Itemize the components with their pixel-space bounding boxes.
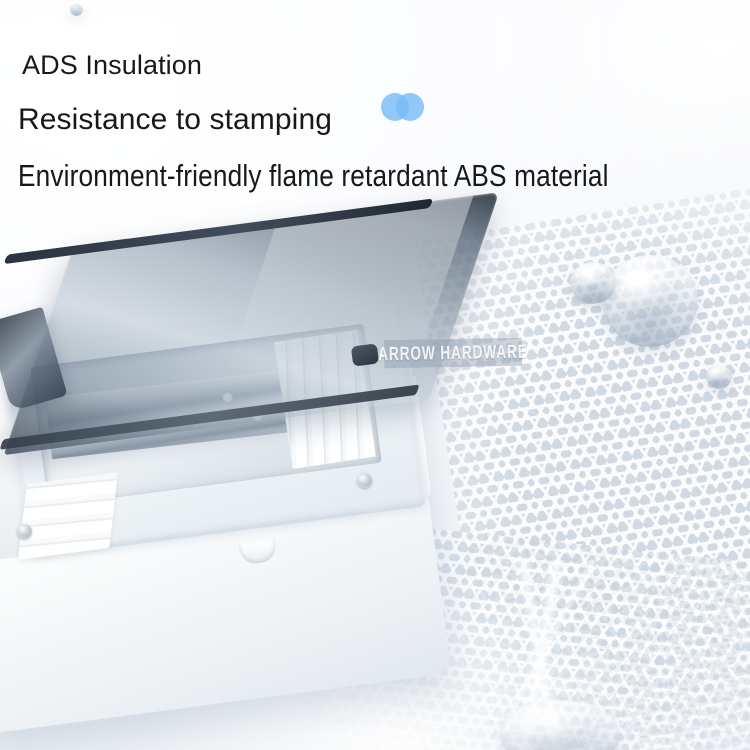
product-feature-banner: ARROW HARDWARE ADS Insulation Resistance…: [0, 0, 750, 750]
lid-hinge: [351, 343, 379, 366]
headline-line-1: ADS Insulation: [22, 52, 202, 79]
blue-circle-right: [396, 93, 424, 121]
water-droplet-tiny: [70, 4, 83, 16]
electrical-distribution-box: [0, 195, 520, 715]
water-droplet-small: [706, 365, 732, 389]
water-droplet-large: [602, 255, 698, 347]
panel-screw: [357, 473, 372, 488]
headline-line-2: Resistance to stamping: [18, 105, 332, 135]
breaker-slot-fins-lower: [18, 472, 118, 560]
panel-screw: [17, 524, 32, 539]
headline-line-3: Environment-friendly flame retardant ABS…: [18, 160, 609, 191]
watermark: ARROW HARDWARE: [384, 338, 522, 368]
water-droplet-medium: [570, 262, 616, 304]
watermark-text: ARROW HARDWARE: [378, 342, 528, 364]
blue-dots-ornament: [381, 93, 425, 123]
